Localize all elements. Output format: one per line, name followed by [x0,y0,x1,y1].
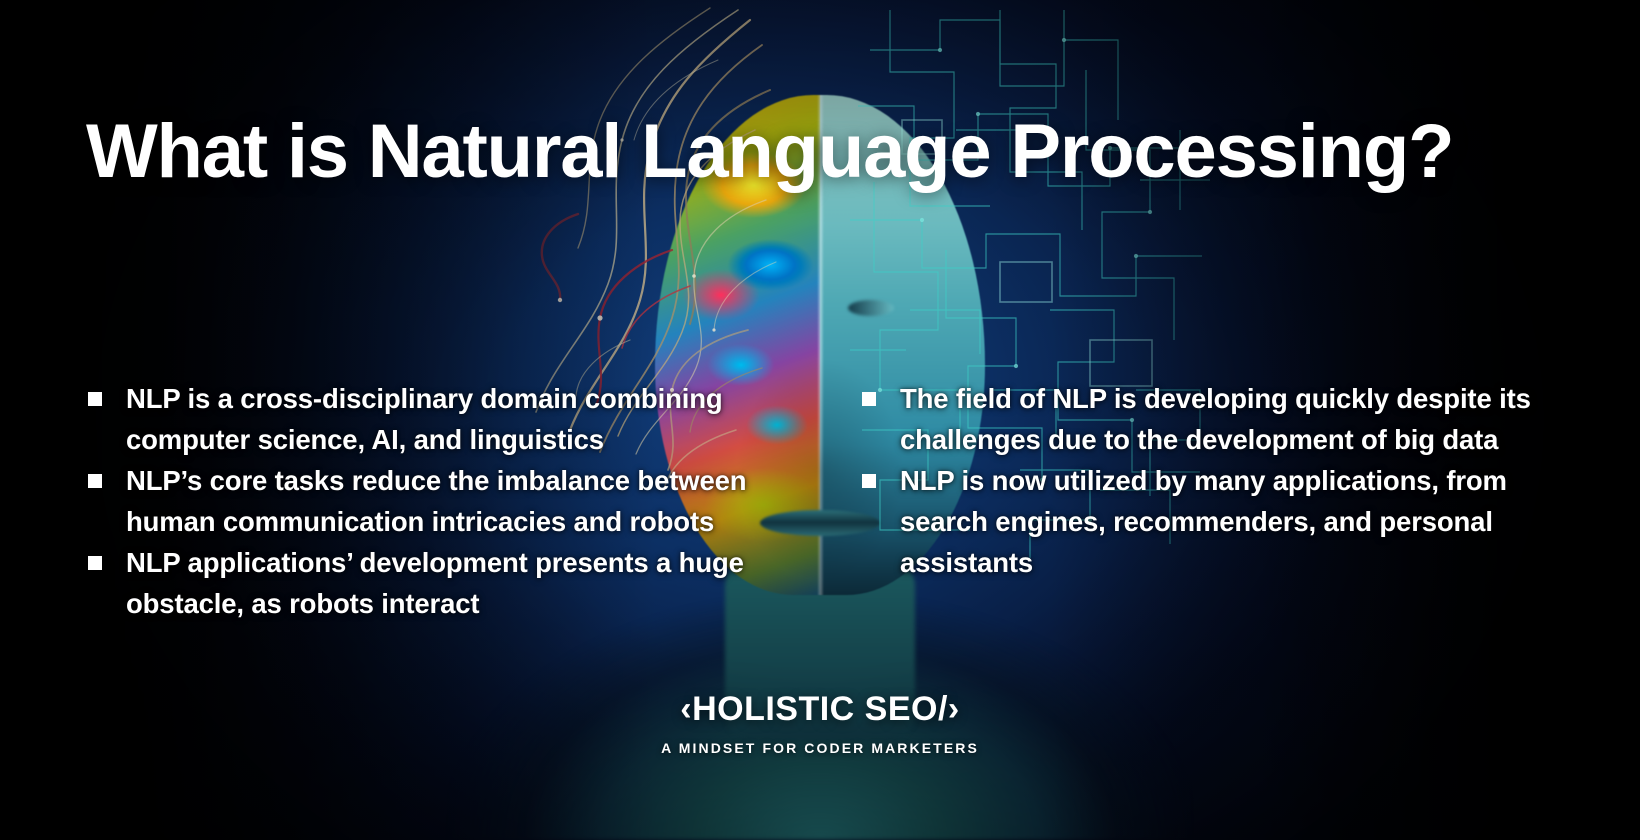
right-column: The field of NLP is developing quickly d… [858,378,1556,624]
list-item: NLP is a cross-disciplinary domain combi… [84,378,782,460]
bullet-text: NLP applications’ development presents a… [126,547,744,619]
square-bullet-icon [862,474,876,488]
logo-tagline: A MINDSET FOR CODER MARKETERS [520,740,1120,756]
square-bullet-icon [88,474,102,488]
page-title: What is Natural Language Processing? [86,112,1506,192]
list-item: NLP is now utilized by many applications… [858,460,1556,583]
list-item: The field of NLP is developing quickly d… [858,378,1556,460]
content-layer: What is Natural Language Processing? NLP… [0,0,1640,840]
left-column: NLP is a cross-disciplinary domain combi… [84,378,782,624]
logo-wordmark: ‹HOLISTIC SEO/› [520,690,1120,729]
list-item: NLP applications’ development presents a… [84,542,782,624]
bullet-columns: NLP is a cross-disciplinary domain combi… [84,378,1556,624]
bullet-text: NLP is a cross-disciplinary domain combi… [126,383,723,455]
slide-canvas: What is Natural Language Processing? NLP… [0,0,1640,840]
right-bullet-list: The field of NLP is developing quickly d… [858,378,1556,583]
bullet-text: NLP’s core tasks reduce the imbalance be… [126,465,746,537]
left-bullet-list: NLP is a cross-disciplinary domain combi… [84,378,782,624]
brand-logo: ‹HOLISTIC SEO/› A MINDSET FOR CODER MARK… [520,690,1120,756]
bullet-text: NLP is now utilized by many applications… [900,465,1507,578]
square-bullet-icon [88,556,102,570]
bullet-text: The field of NLP is developing quickly d… [900,383,1531,455]
square-bullet-icon [88,392,102,406]
square-bullet-icon [862,392,876,406]
list-item: NLP’s core tasks reduce the imbalance be… [84,460,782,542]
